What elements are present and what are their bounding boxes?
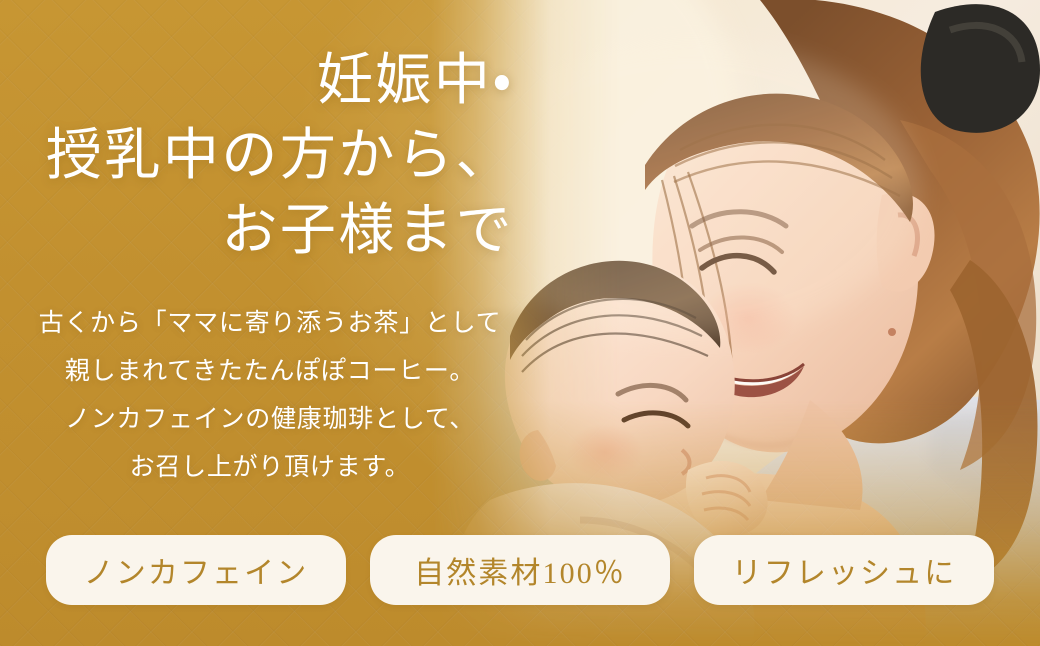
- subcopy-line-4: お召し上がり頂けます。: [0, 444, 540, 492]
- headline: 妊娠中・ 授乳中の方から、 お子様まで: [46, 44, 514, 269]
- headline-line-3: お子様まで: [46, 194, 514, 269]
- headline-line-1: 妊娠中・: [46, 44, 514, 119]
- badge-refresh: リフレッシュに: [694, 535, 994, 605]
- subcopy-line-1: 古くから「ママに寄り添うお茶」として: [0, 300, 540, 348]
- subcopy: 古くから「ママに寄り添うお茶」として 親しまれてきたたんぽぽコーヒー。 ノンカフ…: [0, 300, 540, 492]
- promo-banner: 妊娠中・ 授乳中の方から、 お子様まで 古くから「ママに寄り添うお茶」として 親…: [0, 0, 1040, 646]
- feature-badge-list: ノンカフェイン 自然素材100％ リフレッシュに: [46, 535, 994, 605]
- subcopy-line-3: ノンカフェインの健康珈琲として、: [0, 396, 540, 444]
- badge-non-caffeine: ノンカフェイン: [46, 535, 346, 605]
- badge-natural-material: 自然素材100％: [370, 535, 670, 605]
- headline-line-2: 授乳中の方から、: [46, 119, 514, 194]
- subcopy-line-2: 親しまれてきたたんぽぽコーヒー。: [0, 348, 540, 396]
